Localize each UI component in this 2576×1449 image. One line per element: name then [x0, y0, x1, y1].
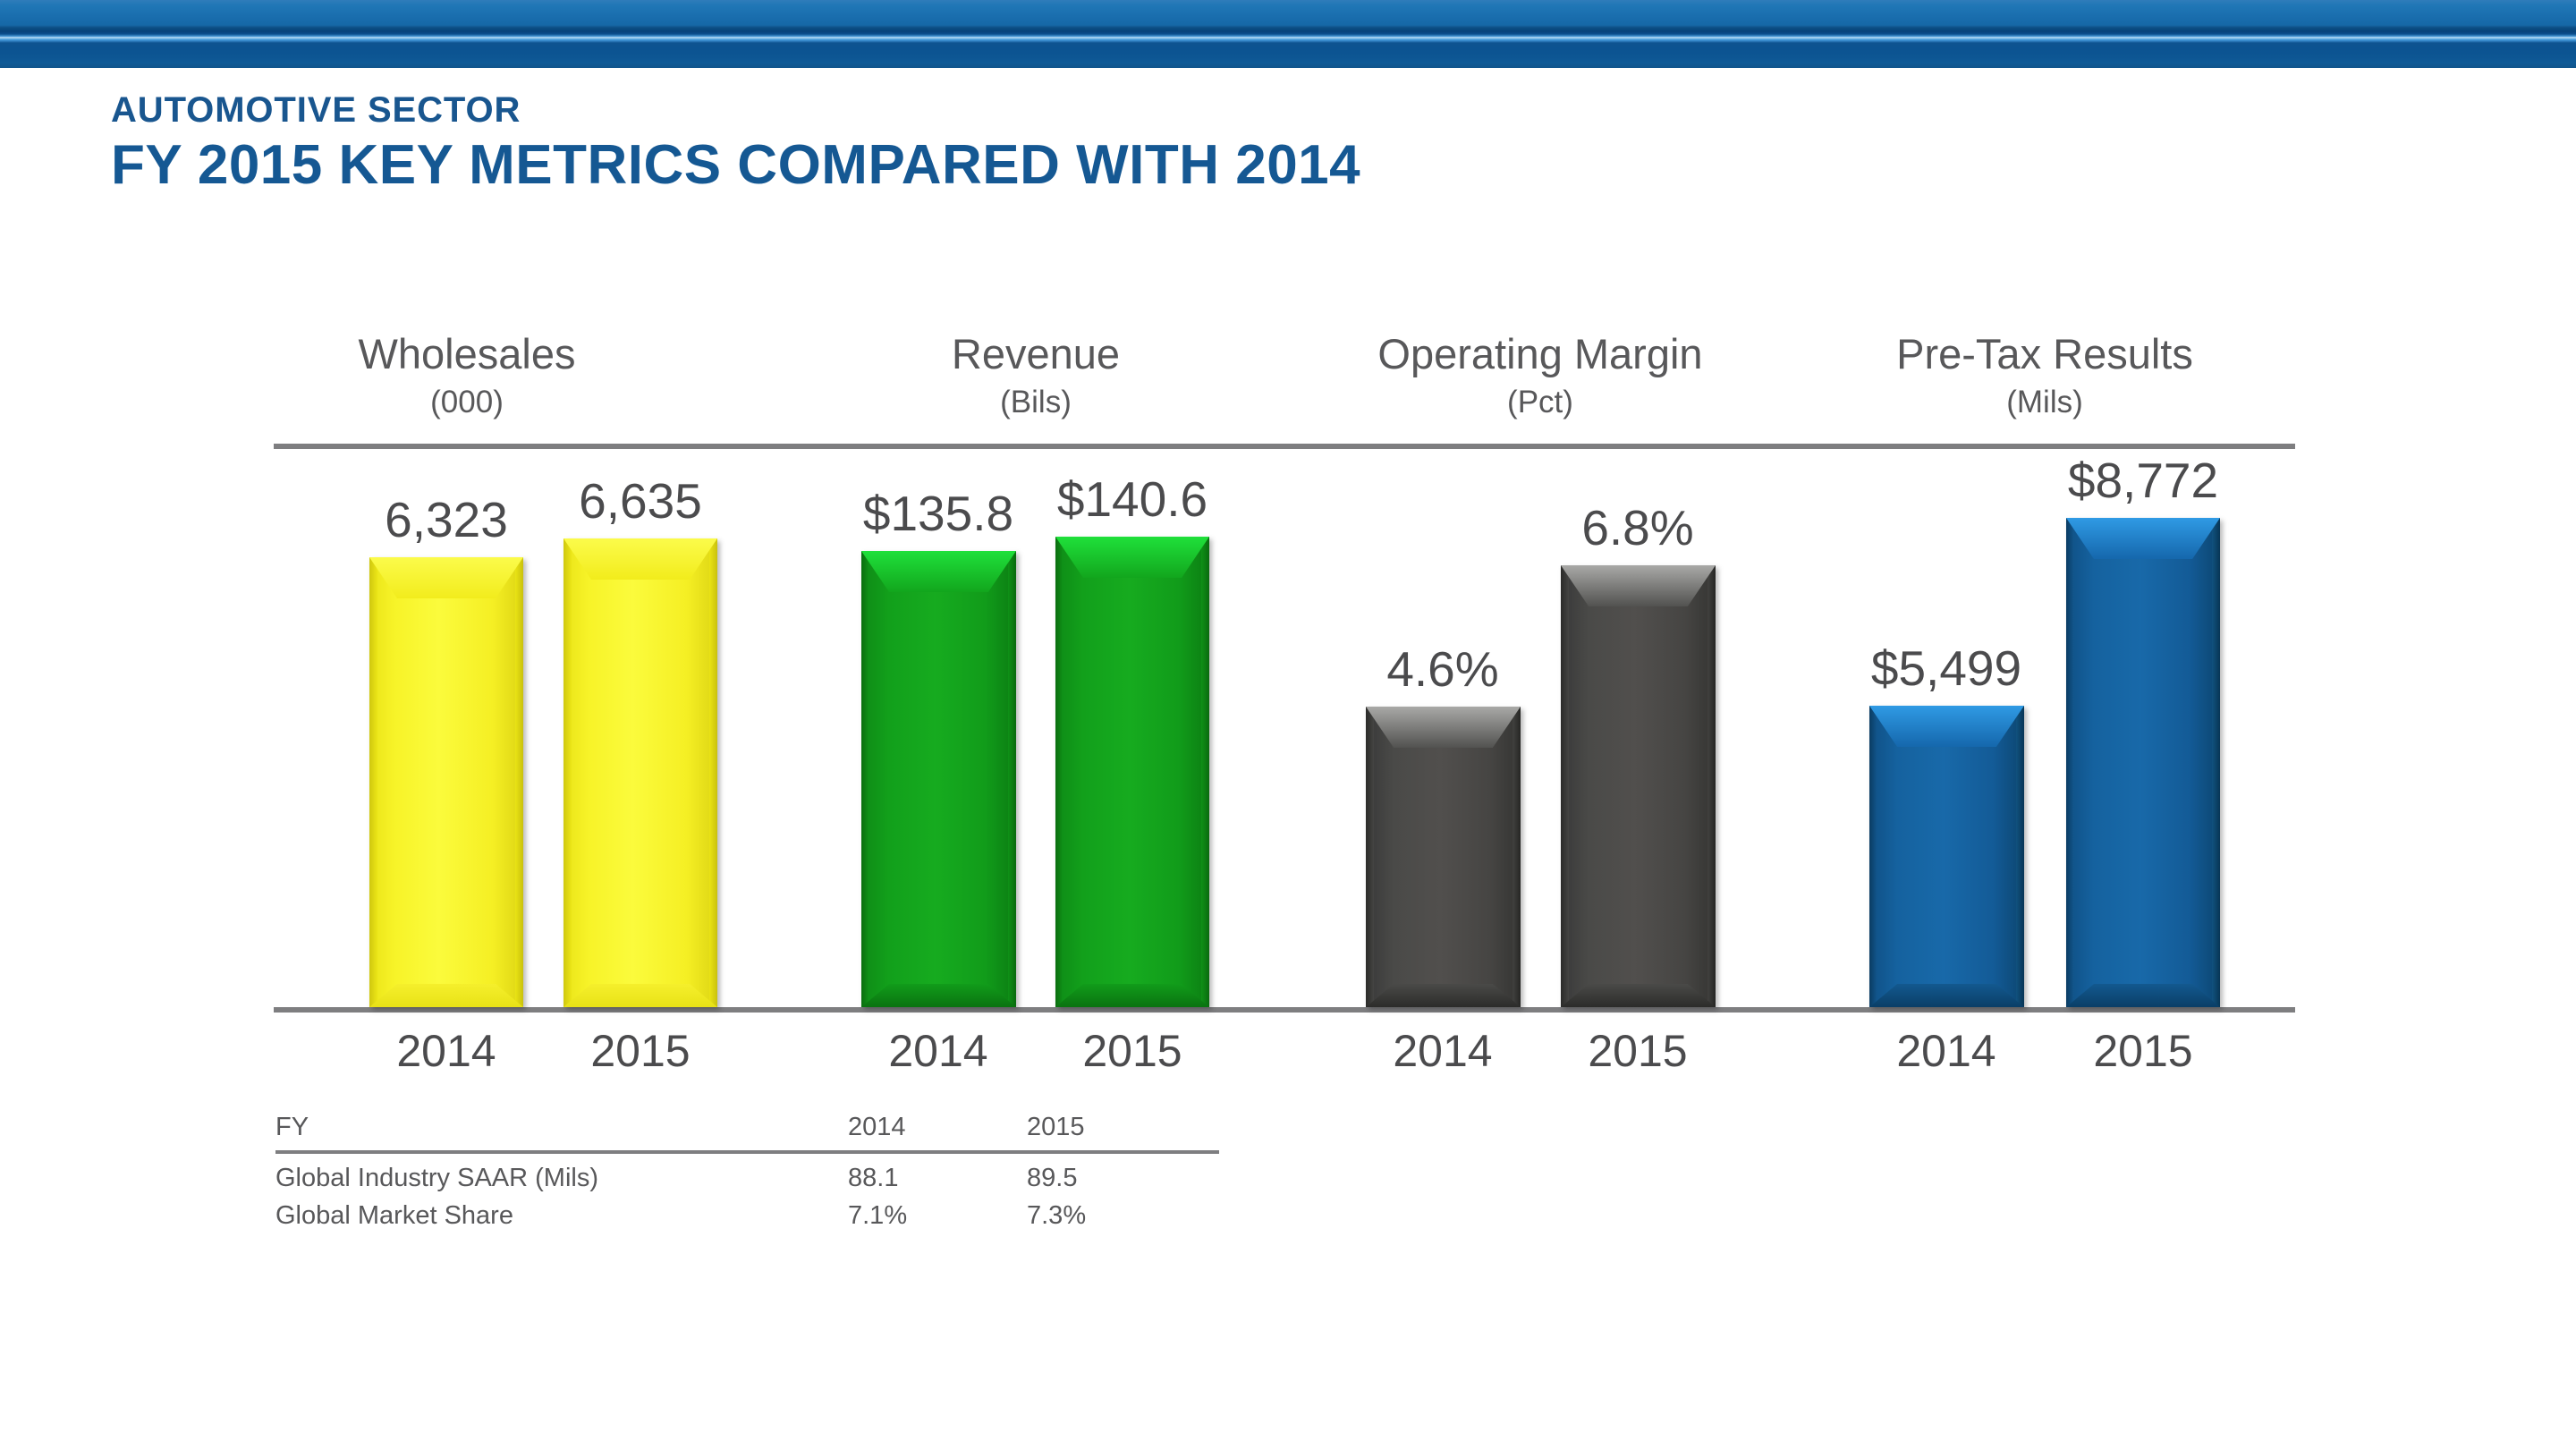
table-header-2015: 2015 [1027, 1112, 1219, 1152]
group-title-operating-margin: Operating Margin [1299, 333, 1782, 375]
table-header-2014: 2014 [848, 1112, 1027, 1152]
group-unit-pre-tax-results: (Mils) [1803, 386, 2286, 418]
group-unit-revenue: (Bils) [830, 386, 1241, 418]
bar-edge-left [1869, 706, 1877, 1007]
bar-edge-right [1201, 537, 1209, 1007]
bar-operating-margin-2014[interactable] [1366, 707, 1521, 1007]
bar-edge-left [861, 551, 869, 1007]
chart-axis-line [274, 1007, 2295, 1013]
xlabel-pre-tax-results-2015: 2015 [2027, 1029, 2259, 1073]
bar-value-revenue-2015: $140.6 [1016, 475, 1249, 524]
bar-value-wholesales-2015: 6,635 [524, 477, 757, 526]
bar-pre-tax-results-2015[interactable] [2066, 518, 2220, 1007]
bar-value-pre-tax-results-2015: $8,772 [2027, 456, 2259, 505]
bar-edge-left [369, 557, 377, 1007]
bar-edge-left [1055, 537, 1063, 1007]
table-cell-2015: 7.3% [1027, 1191, 1219, 1229]
bar-operating-margin-2015[interactable] [1561, 565, 1716, 1007]
bar-face [1869, 706, 2024, 1007]
bar-edge-right [709, 538, 717, 1007]
group-title-revenue: Revenue [830, 333, 1241, 375]
bar-face [1561, 565, 1716, 1007]
table-cell-label: Global Industry SAAR (Mils) [275, 1152, 848, 1191]
bar-edge-left [563, 538, 572, 1007]
bar-value-operating-margin-2015: 6.8% [1521, 504, 1754, 553]
bar-edge-right [1008, 551, 1016, 1007]
bar-value-operating-margin-2014: 4.6% [1326, 645, 1559, 694]
table-cell-2014: 88.1 [848, 1152, 1027, 1191]
bar-revenue-2015[interactable] [1055, 537, 1209, 1007]
bar-pre-tax-results-2014[interactable] [1869, 706, 2024, 1007]
bar-edge-left [1561, 565, 1569, 1007]
bar-face [861, 551, 1016, 1007]
bar-edge-right [1513, 707, 1521, 1007]
bar-wholesales-2015[interactable] [563, 538, 717, 1007]
table-header-fy: FY [275, 1112, 848, 1152]
bar-edge-right [2016, 706, 2024, 1007]
footnote-table: FY 2014 2015 Global Industry SAAR (Mils)… [275, 1112, 1219, 1229]
bar-revenue-2014[interactable] [861, 551, 1016, 1007]
bar-value-pre-tax-results-2014: $5,499 [1830, 644, 2063, 693]
table-cell-2015: 89.5 [1027, 1152, 1219, 1191]
group-unit-operating-margin: (Pct) [1299, 386, 1782, 418]
bar-chart: Wholesales (000) Revenue (Bils) Operatin… [0, 0, 2576, 1449]
group-unit-wholesales: (000) [261, 386, 673, 418]
bar-face [1055, 537, 1209, 1007]
bar-edge-right [1707, 565, 1716, 1007]
bar-face [1366, 707, 1521, 1007]
bar-edge-left [2066, 518, 2074, 1007]
xlabel-wholesales-2015: 2015 [524, 1029, 757, 1073]
table-header-row: FY 2014 2015 [275, 1112, 1219, 1152]
bar-edge-right [515, 557, 523, 1007]
bar-face [563, 538, 717, 1007]
chart-top-rule [274, 444, 2295, 449]
xlabel-operating-margin-2015: 2015 [1521, 1029, 1754, 1073]
bar-wholesales-2014[interactable] [369, 557, 523, 1007]
bar-face [2066, 518, 2220, 1007]
bar-face [369, 557, 523, 1007]
xlabel-revenue-2015: 2015 [1016, 1029, 1249, 1073]
bar-edge-left [1366, 707, 1374, 1007]
table-row: Global Industry SAAR (Mils) 88.1 89.5 [275, 1152, 1219, 1191]
group-title-pre-tax-results: Pre-Tax Results [1803, 333, 2286, 375]
table-cell-2014: 7.1% [848, 1191, 1027, 1229]
group-title-wholesales: Wholesales [261, 333, 673, 375]
table-row: Global Market Share 7.1% 7.3% [275, 1191, 1219, 1229]
table-cell-label: Global Market Share [275, 1191, 848, 1229]
bar-edge-right [2212, 518, 2220, 1007]
